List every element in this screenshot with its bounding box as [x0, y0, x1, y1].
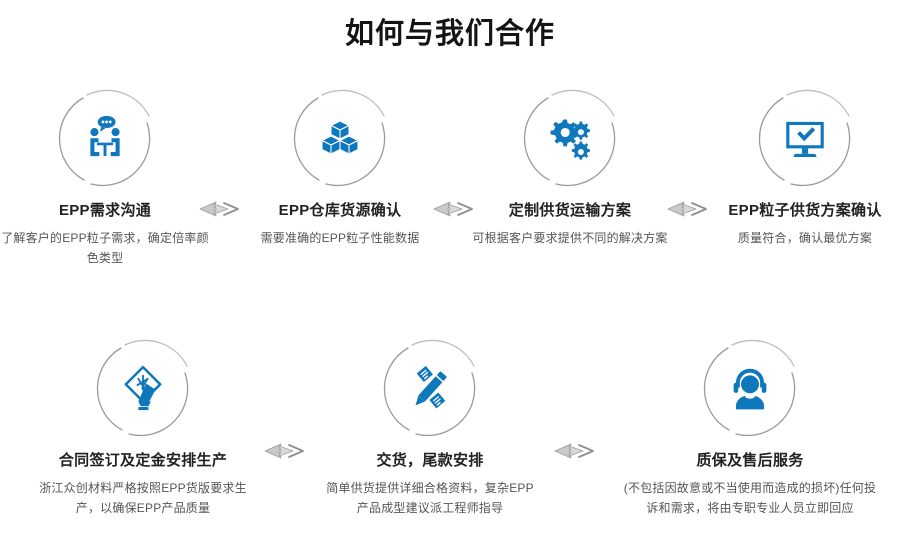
step-desc-1: 了解客户的EPP粒子需求，确定倍率颜色类型 — [0, 228, 220, 268]
double-chevron-right-icon — [263, 440, 305, 462]
step-circle-1 — [54, 88, 156, 190]
contract-signing-icon — [116, 362, 170, 416]
step-circle-4 — [754, 88, 856, 190]
double-chevron-right-icon — [553, 440, 595, 462]
step-title-6: 交货，尾款安排 — [315, 451, 545, 471]
step-title-3: 定制供货运输方案 — [455, 201, 685, 221]
step-circle-3 — [519, 88, 621, 190]
headset-support-icon — [723, 362, 777, 416]
step-card-3[interactable]: 定制供货运输方案 可根据客户要求提供不同的解决方案 — [455, 88, 685, 248]
page-title: 如何与我们合作 — [0, 14, 900, 54]
step-title-1: EPP需求沟通 — [0, 201, 220, 221]
arrow-step-5-to-6 — [263, 440, 305, 462]
step-card-4[interactable]: EPP粒子供货方案确认 质量符合，确认最优方案 — [690, 88, 900, 248]
step-desc-3: 可根据客户要求提供不同的解决方案 — [455, 228, 685, 248]
step-card-5[interactable]: 合同签订及定金安排生产 浙江众创材料严格按照EPP货版要求生产，以确保EPP产品… — [28, 338, 258, 518]
step-desc-7: (不包括因故意或不当使用而造成的损坏)任何投诉和需求，将由专职专业人员立即回应 — [615, 478, 885, 518]
step-circle-5 — [92, 338, 194, 440]
step-card-7[interactable]: 质保及售后服务 (不包括因故意或不当使用而造成的损坏)任何投诉和需求，将由专职专… — [615, 338, 885, 518]
step-desc-5: 浙江众创材料严格按照EPP货版要求生产，以确保EPP产品质量 — [28, 478, 258, 518]
monitor-check-icon — [778, 112, 832, 166]
step-circle-6 — [379, 338, 481, 440]
step-desc-2: 需要准确的EPP粒子性能数据 — [225, 228, 455, 248]
step-title-2: EPP仓库货源确认 — [225, 201, 455, 221]
meeting-discussion-icon — [78, 112, 132, 166]
pen-documents-icon — [403, 362, 457, 416]
boxes-stack-icon — [313, 112, 367, 166]
step-circle-2 — [289, 88, 391, 190]
step-card-6[interactable]: 交货，尾款安排 简单供货提供详细合格资料，复杂EPP产品成型建议派工程师指导 — [315, 338, 545, 518]
step-title-5: 合同签订及定金安排生产 — [28, 451, 258, 471]
arrow-step-6-to-7 — [553, 440, 595, 462]
gears-icon — [543, 112, 597, 166]
cooperation-process-page: 如何与我们合作 — [0, 0, 900, 538]
step-card-2[interactable]: EPP仓库货源确认 需要准确的EPP粒子性能数据 — [225, 88, 455, 248]
step-title-4: EPP粒子供货方案确认 — [690, 201, 900, 221]
step-title-7: 质保及售后服务 — [615, 451, 885, 471]
step-desc-6: 简单供货提供详细合格资料，复杂EPP产品成型建议派工程师指导 — [315, 478, 545, 518]
step-circle-7 — [699, 338, 801, 440]
step-card-1[interactable]: EPP需求沟通 了解客户的EPP粒子需求，确定倍率颜色类型 — [0, 88, 220, 268]
step-desc-4: 质量符合，确认最优方案 — [690, 228, 900, 248]
